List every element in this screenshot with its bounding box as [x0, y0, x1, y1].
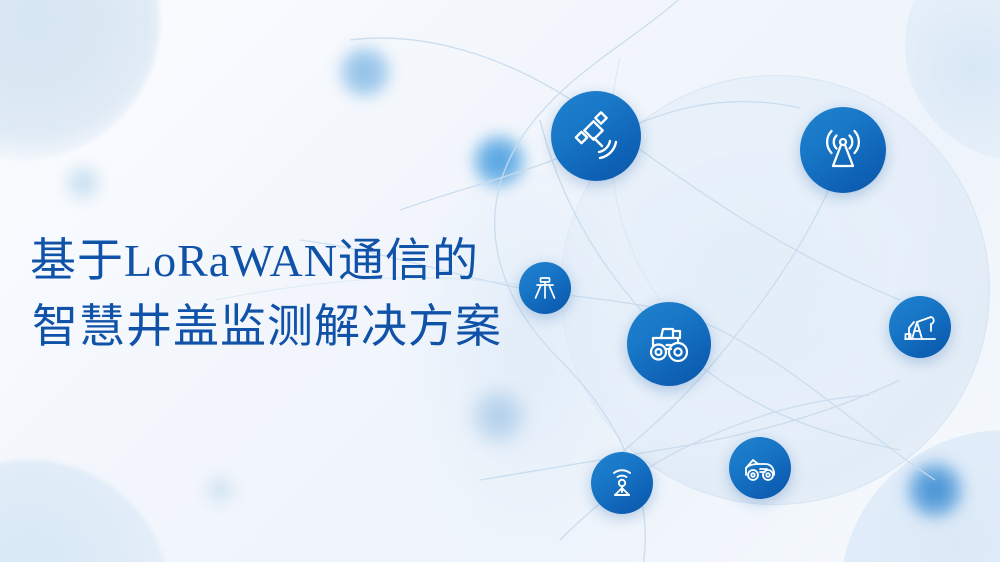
- slide-canvas: 基于LoRaWAN通信的 智慧井盖监测解决方案: [0, 0, 1000, 562]
- broadcast-tower-icon: [818, 125, 868, 175]
- harvester-vehicle-icon: [741, 449, 779, 487]
- node-satellite[interactable]: [551, 91, 641, 181]
- node-tractor[interactable]: [627, 302, 711, 386]
- node-oilpump[interactable]: [889, 296, 951, 358]
- title-line-1: 基于LoRaWAN通信的: [30, 228, 550, 294]
- slide-title: 基于LoRaWAN通信的 智慧井盖监测解决方案: [30, 228, 550, 360]
- tractor-icon: [644, 319, 694, 369]
- node-beacon[interactable]: [591, 452, 653, 514]
- node-harvester[interactable]: [729, 437, 791, 499]
- orbit-path-10: [610, 58, 660, 300]
- oil-pumpjack-icon: [901, 308, 939, 346]
- signal-beacon-icon: [603, 464, 641, 502]
- title-line-2: 智慧井盖监测解决方案: [30, 294, 550, 360]
- orbit-path-6: [600, 150, 845, 470]
- node-antenna[interactable]: [800, 107, 886, 193]
- satellite-dish-icon: [570, 110, 622, 162]
- orbit-path-7: [480, 380, 900, 480]
